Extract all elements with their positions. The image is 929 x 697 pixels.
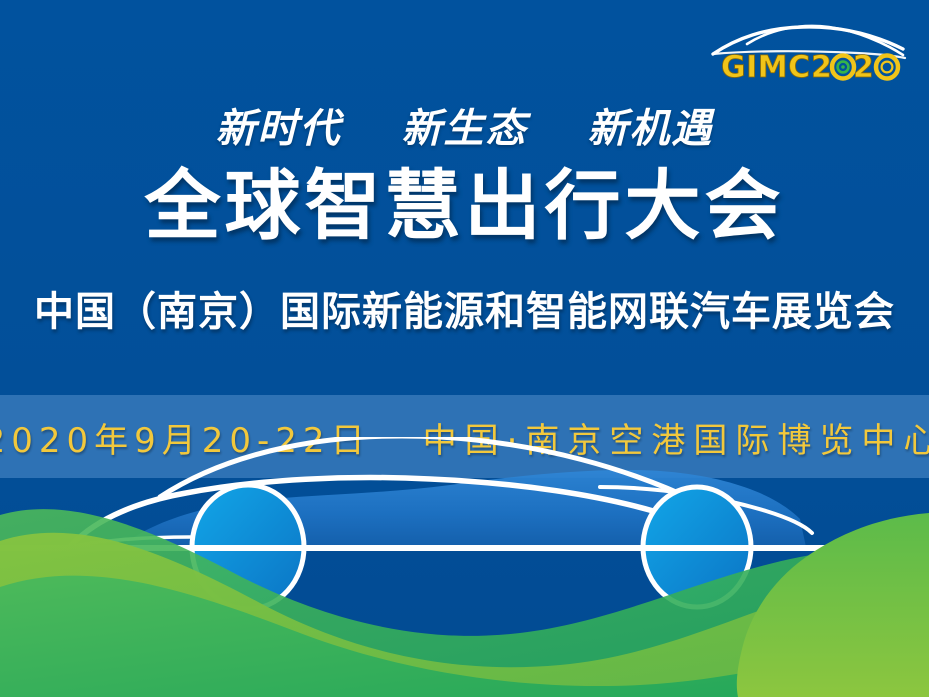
logo-o-glyph-second	[876, 56, 898, 79]
svg-text:GIMC: GIMC	[721, 50, 811, 84]
page-title: 全球智慧出行大会	[0, 168, 929, 244]
tagline-item-2: 新生态	[402, 96, 528, 154]
tagline-item-1: 新时代	[216, 96, 342, 154]
svg-text:2: 2	[811, 50, 833, 84]
gimc-logo: GIMC 2 2	[707, 22, 917, 84]
tagline-item-3: 新机遇	[587, 96, 713, 154]
page-subtitle: 中国（南京）国际新能源和智能网联汽车展览会	[0, 292, 929, 332]
svg-text:2: 2	[853, 50, 875, 84]
logo-o-glyph-first	[832, 56, 854, 79]
event-poster: GIMC 2 2 新时代 新生态 新机遇 全球智慧出行大会 中国（南京）国际新能…	[0, 0, 929, 697]
bottom-artwork	[0, 437, 929, 697]
tagline: 新时代 新生态 新机遇	[0, 96, 929, 154]
